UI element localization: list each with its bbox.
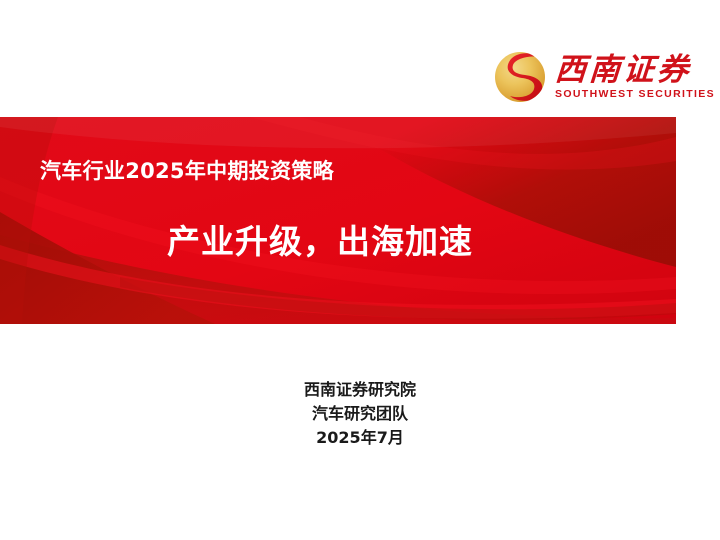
footer-institute: 西南证券研究院 — [0, 378, 720, 402]
report-series-subtitle: 汽车行业2025年中期投资策略 — [40, 155, 334, 185]
logo-english-name: SOUTHWEST SECURITIES — [555, 89, 715, 100]
footer-credits: 西南证券研究院 汽车研究团队 2025年7月 — [0, 378, 720, 450]
southwest-securities-swirl-logo — [494, 51, 546, 103]
cover-slide: 西南证券 SOUTHWEST SECURITIES — [0, 0, 720, 540]
logo-chinese-name: 西南证券 — [554, 55, 716, 86]
page-title: 产业升级，出海加速 — [0, 215, 640, 263]
banner-text-layer: 汽车行业2025年中期投资策略 产业升级，出海加速 — [0, 117, 676, 324]
footer-team: 汽车研究团队 — [0, 402, 720, 426]
company-logo: 西南证券 SOUTHWEST SECURITIES — [494, 46, 690, 108]
title-banner: 汽车行业2025年中期投资策略 产业升级，出海加速 — [0, 117, 676, 324]
logo-wordmark: 西南证券 SOUTHWEST SECURITIES — [555, 55, 715, 100]
footer-date: 2025年7月 — [0, 426, 720, 450]
